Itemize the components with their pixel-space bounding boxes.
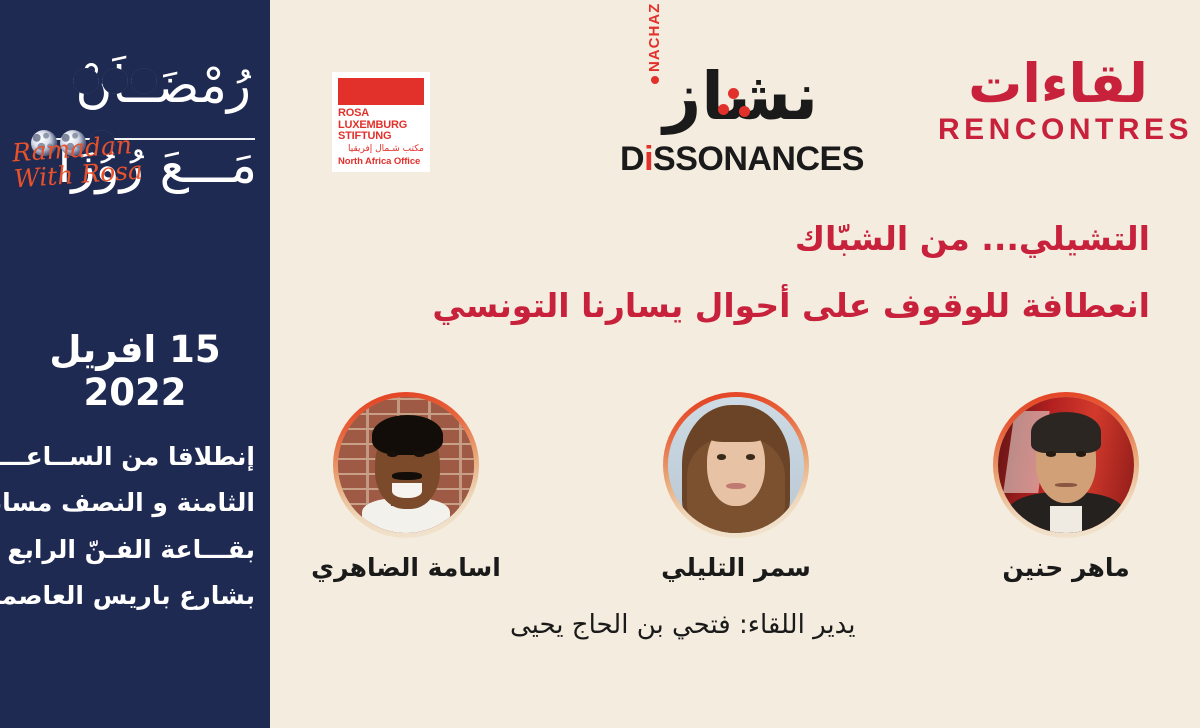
- event-details: إنطلاقا من الســاعـــة الثامنة و النصف م…: [15, 434, 255, 619]
- ramadan-with-rosa-script: Ramadan With Rosa: [11, 132, 143, 193]
- dissonances-wordmark: DiSSONANCES: [620, 140, 864, 179]
- speaker-name: اسامة الضاهري: [311, 553, 501, 582]
- event-detail-line: بشارع باريس العاصمة: [15, 573, 255, 619]
- event-poster: رُمْضَــاَنْ مَـــعَ رُوُزَا Ramadan Wit…: [0, 0, 1200, 728]
- main-content: ROSA LUXEMBURG STIFTUNG مكتب شـمال إفريق…: [270, 0, 1200, 728]
- red-dot-icon: [718, 104, 729, 115]
- event-titles: التشيلي... من الشبّاك انعطافة للوقوف على…: [270, 218, 1200, 327]
- moon-phase-icon: [131, 68, 157, 94]
- event-title-primary: التشيلي... من الشبّاك: [270, 218, 1150, 259]
- speaker-avatar-ring: [663, 392, 809, 538]
- speaker-photo-red-flag: [998, 397, 1134, 533]
- event-date: 15 افريل 2022: [15, 328, 255, 414]
- dissonances-i: i: [644, 140, 653, 178]
- moderator-line: يدير اللقاء: فتحي بن الحاج يحيى: [270, 610, 1200, 640]
- rencontres-french: RENCONTRES: [938, 113, 1178, 147]
- sidebar: رُمْضَــاَنْ مَـــعَ رُوُزَا Ramadan Wit…: [0, 0, 270, 728]
- nachaz-red-dots-icon: [714, 88, 758, 118]
- moon-phase-icon: [102, 68, 128, 94]
- rls-name-line: ROSA: [338, 108, 424, 120]
- rls-name-line: STIFTUNG: [338, 131, 424, 143]
- event-detail-line: إنطلاقا من الســاعـــة: [15, 434, 255, 480]
- dissonances-rest: SSONANCES: [653, 140, 864, 178]
- speaker-name: سمر التليلي: [661, 553, 811, 582]
- speaker-card: سمر التليلي: [636, 392, 836, 582]
- moon-phase-icon-group-top: [73, 68, 157, 94]
- rencontres-logo: لقاءات RENCONTRES: [938, 56, 1178, 147]
- rls-office-label: North Africa Office: [338, 156, 424, 167]
- speaker-card: ماهر حنين: [966, 392, 1166, 582]
- speaker-avatar-ring: [993, 392, 1139, 538]
- avatar: [668, 397, 804, 533]
- red-dot-icon: [728, 88, 739, 99]
- nachaz-vertical-text: NACHAZ: [646, 3, 663, 72]
- speakers-list: اسامة الضاهري سمر التليلي: [306, 392, 1166, 582]
- rls-red-square-icon: [338, 78, 424, 105]
- rosa-luxemburg-stiftung-logo: ROSA LUXEMBURG STIFTUNG مكتب شـمال إفريق…: [332, 72, 430, 172]
- nachaz-dissonances-logo: NACHAZ نشاز DiSSONANCES: [618, 70, 818, 175]
- rls-name: ROSA LUXEMBURG STIFTUNG: [338, 108, 424, 143]
- ramadan-with-rosa-logo: رُمْضَــاَنْ مَـــعَ رُوُزَا Ramadan Wit…: [5, 52, 265, 232]
- avatar: [338, 397, 474, 533]
- red-dot-icon: [739, 106, 750, 117]
- speaker-photo-sky-background: [668, 397, 804, 533]
- moderator-text: يدير اللقاء: فتحي بن الحاج يحيى: [510, 610, 856, 640]
- moon-phase-icon: [73, 68, 99, 94]
- event-title-subtitle: انعطافة للوقوف على أحوال يسارنا التونسي: [270, 285, 1150, 326]
- event-detail-line: بقـــاعة الفـنّ الرابع: [15, 527, 255, 573]
- dissonances-d: D: [620, 140, 644, 178]
- speaker-card: اسامة الضاهري: [306, 392, 506, 582]
- rencontres-arabic: لقاءات: [938, 56, 1178, 111]
- logo-row: ROSA LUXEMBURG STIFTUNG مكتب شـمال إفريق…: [270, 0, 1200, 190]
- speaker-avatar-ring: [333, 392, 479, 538]
- speaker-name: ماهر حنين: [1002, 553, 1129, 582]
- event-detail-line: الثامنة و النصف مساء: [15, 480, 255, 526]
- nachaz-vertical-label: NACHAZ: [646, 3, 663, 84]
- avatar: [998, 397, 1134, 533]
- speaker-photo-brick-wall: [338, 397, 474, 533]
- rls-arabic-office: مكتب شـمال إفريقيا: [338, 144, 424, 156]
- red-dot-icon: [651, 76, 659, 84]
